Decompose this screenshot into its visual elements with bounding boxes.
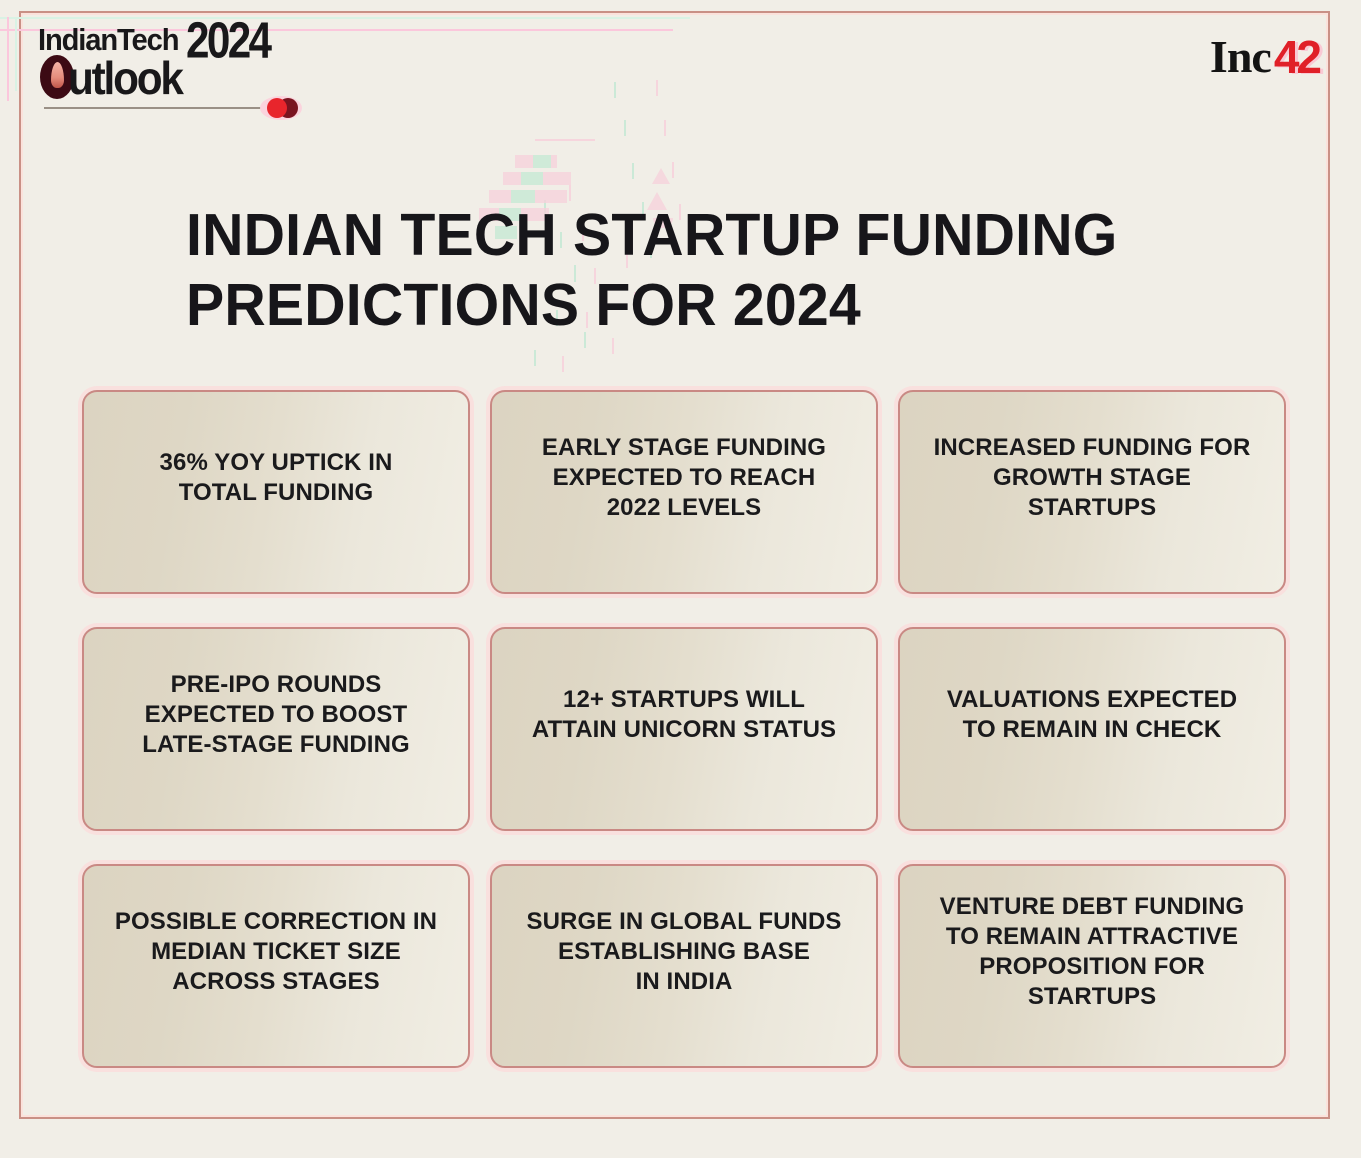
prediction-card[interactable]: EARLY STAGE FUNDING EXPECTED TO REACH 20… — [490, 390, 878, 594]
flame-shape-icon — [51, 62, 64, 88]
logo-line2-text: utlook — [68, 55, 182, 101]
prediction-card-text: VENTURE DEBT FUNDING TO REMAIN ATTRACTIV… — [918, 892, 1266, 1012]
prediction-card-text: 36% YOY UPTICK IN TOTAL FUNDING — [102, 448, 450, 508]
prediction-card-inner: VALUATIONS EXPECTED TO REMAIN IN CHECK — [900, 685, 1284, 745]
prediction-card[interactable]: 12+ STARTUPS WILL ATTAIN UNICORN STATUS — [490, 627, 878, 831]
inc42-logo[interactable]: Inc 42 42 — [1210, 33, 1319, 81]
prediction-card[interactable]: VALUATIONS EXPECTED TO REMAIN IN CHECK — [898, 627, 1286, 831]
prediction-card[interactable]: PRE-IPO ROUNDS EXPECTED TO BOOST LATE-ST… — [82, 627, 470, 831]
prediction-card-inner: 36% YOY UPTICK IN TOTAL FUNDING — [84, 448, 468, 508]
prediction-card-text: PRE-IPO ROUNDS EXPECTED TO BOOST LATE-ST… — [102, 670, 450, 760]
prediction-card-inner: VENTURE DEBT FUNDING TO REMAIN ATTRACTIV… — [900, 892, 1284, 1012]
header: IndianTech 2024 utlook Inc 42 42 — [0, 0, 1361, 130]
indian-tech-outlook-logo: IndianTech 2024 utlook — [38, 22, 288, 122]
logo-underline-rule — [44, 107, 272, 109]
prediction-card[interactable]: 36% YOY UPTICK IN TOTAL FUNDING — [82, 390, 470, 594]
logo-year-2024: 2024 — [186, 16, 269, 67]
prediction-card-inner: 12+ STARTUPS WILL ATTAIN UNICORN STATUS — [492, 685, 876, 745]
inc42-number-wrap: 42 42 — [1274, 34, 1319, 80]
prediction-card-text: EARLY STAGE FUNDING EXPECTED TO REACH 20… — [510, 433, 858, 523]
page-title-line1: INDIAN TECH STARTUP FUNDING — [186, 200, 1166, 270]
inc42-number-42: 42 — [1274, 31, 1319, 83]
prediction-card[interactable]: SURGE IN GLOBAL FUNDS ESTABLISHING BASE … — [490, 864, 878, 1068]
logo-dot-red-icon — [267, 98, 287, 118]
prediction-card[interactable]: VENTURE DEBT FUNDING TO REMAIN ATTRACTIV… — [898, 864, 1286, 1068]
prediction-card-inner: SURGE IN GLOBAL FUNDS ESTABLISHING BASE … — [492, 907, 876, 997]
prediction-card-inner: PRE-IPO ROUNDS EXPECTED TO BOOST LATE-ST… — [84, 670, 468, 760]
prediction-card[interactable]: POSSIBLE CORRECTION IN MEDIAN TICKET SIZ… — [82, 864, 470, 1068]
prediction-card-text: POSSIBLE CORRECTION IN MEDIAN TICKET SIZ… — [102, 907, 450, 997]
page-title: INDIAN TECH STARTUP FUNDING PREDICTIONS … — [186, 200, 1196, 340]
prediction-card-text: 12+ STARTUPS WILL ATTAIN UNICORN STATUS — [510, 685, 858, 745]
prediction-card-inner: EARLY STAGE FUNDING EXPECTED TO REACH 20… — [492, 433, 876, 523]
prediction-card-text: SURGE IN GLOBAL FUNDS ESTABLISHING BASE … — [510, 907, 858, 997]
inc42-word-inc: Inc — [1210, 34, 1271, 80]
prediction-card-inner: INCREASED FUNDING FOR GROWTH STAGE START… — [900, 433, 1284, 523]
prediction-card-text: VALUATIONS EXPECTED TO REMAIN IN CHECK — [918, 685, 1266, 745]
prediction-card[interactable]: INCREASED FUNDING FOR GROWTH STAGE START… — [898, 390, 1286, 594]
prediction-card-inner: POSSIBLE CORRECTION IN MEDIAN TICKET SIZ… — [84, 907, 468, 997]
page-title-line2: PREDICTIONS FOR 2024 — [186, 270, 1166, 340]
prediction-card-text: INCREASED FUNDING FOR GROWTH STAGE START… — [918, 433, 1266, 523]
predictions-grid: 36% YOY UPTICK IN TOTAL FUNDING EARLY ST… — [82, 390, 1290, 1068]
